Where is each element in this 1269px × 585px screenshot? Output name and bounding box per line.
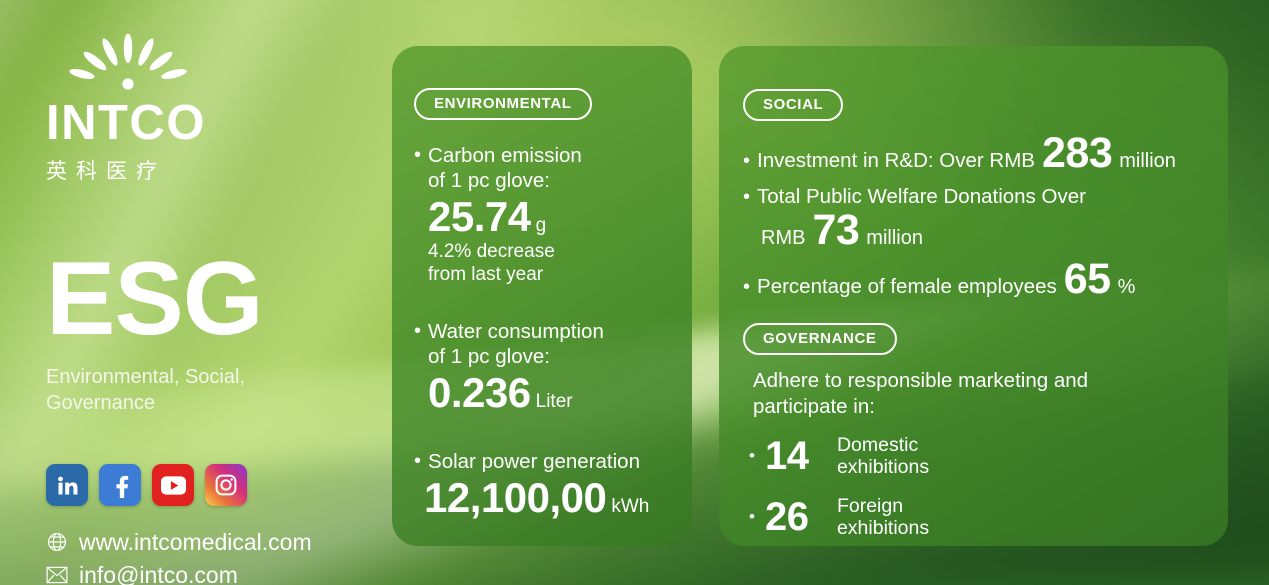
env-carbon-note-1: 4.2% decrease [428, 240, 582, 263]
env-water-unit: Liter [536, 391, 573, 412]
env-carbon-note-2: from last year [428, 263, 582, 286]
env-carbon-label-1: Carbon emission [428, 144, 582, 169]
globe-icon [46, 531, 68, 553]
foreign-count: 26 [765, 497, 827, 537]
foreign-label-2: exhibitions [837, 517, 929, 539]
email-text: info@intco.com [79, 559, 238, 585]
env-carbon-value: 25.74 [428, 193, 531, 240]
governance-exhibition-domestic: • 14 Domestic exhibitions [743, 434, 1228, 479]
social-donation-currency: RMB [761, 227, 805, 250]
foreign-label: Foreign exhibitions [837, 495, 929, 540]
social-governance-card: SOCIAL • Investment in R&D: Over RMB 283… [719, 46, 1228, 546]
env-solar-unit: kWh [611, 496, 649, 517]
social-rnd-prefix: Investment in R&D: Over RMB [757, 149, 1035, 174]
facebook-icon[interactable] [99, 464, 141, 506]
environmental-badge: ENVIRONMENTAL [414, 88, 592, 120]
domestic-label-2: exhibitions [837, 456, 929, 478]
governance-exhibition-foreign: • 26 Foreign exhibitions [743, 495, 1228, 540]
social-item-donations: • Total Public Welfare Donations Over RM… [743, 185, 1228, 251]
env-item-water: • Water consumption of 1 pc glove: 0.236… [414, 320, 692, 416]
env-water-label-2: of 1 pc glove: [428, 345, 604, 370]
website-row[interactable]: www.intcomedical.com [46, 526, 376, 559]
social-badge: SOCIAL [743, 89, 843, 121]
social-item-female: • Percentage of female employees 65 % [743, 260, 1228, 300]
env-item-solar: • Solar power generation 12,100,00kWh [414, 450, 692, 521]
brand-wordmark: INTCO [46, 99, 376, 148]
social-female-suffix: % [1118, 276, 1136, 299]
social-female-value: 65 [1064, 260, 1111, 300]
bullet-icon: • [749, 446, 755, 466]
domestic-label-1: Domestic [837, 434, 918, 456]
bullet-icon: • [743, 186, 750, 210]
env-water-label-1: Water consumption [428, 320, 604, 345]
bullet-icon: • [414, 144, 421, 286]
env-carbon-unit: g [536, 215, 547, 236]
social-female-prefix: Percentage of female employees [757, 275, 1057, 300]
website-text: www.intcomedical.com [79, 526, 312, 559]
social-item-rnd: • Investment in R&D: Over RMB 283 millio… [743, 134, 1228, 174]
social-links [46, 464, 376, 506]
env-item-carbon: • Carbon emission of 1 pc glove: 25.74g … [414, 144, 692, 286]
page-subtitle: Environmental, Social, Governance [46, 364, 276, 416]
sunburst-fan-icon [68, 34, 188, 92]
instagram-icon[interactable] [205, 464, 247, 506]
env-water-value: 0.236 [428, 369, 531, 416]
bullet-icon: • [743, 150, 750, 174]
social-donation-value: 73 [812, 211, 859, 251]
env-solar-value: 12,100,00 [424, 474, 606, 521]
foreign-label-1: Foreign [837, 495, 903, 517]
social-rnd-suffix: million [1119, 150, 1176, 173]
linkedin-icon[interactable] [46, 464, 88, 506]
domestic-count: 14 [765, 436, 827, 476]
bullet-icon: • [749, 507, 755, 527]
domestic-label: Domestic exhibitions [837, 434, 929, 479]
page-title: ESG [46, 247, 376, 351]
env-solar-label-1: Solar power generation [428, 450, 649, 475]
bullet-icon: • [414, 320, 421, 416]
email-row[interactable]: info@intco.com [46, 559, 376, 585]
governance-badge: GOVERNANCE [743, 323, 897, 355]
brand-chinese-name: 英科医疗 [46, 155, 376, 185]
bullet-icon: • [414, 450, 421, 521]
youtube-icon[interactable] [152, 464, 194, 506]
env-carbon-label-2: of 1 pc glove: [428, 169, 582, 194]
social-rnd-value: 283 [1042, 134, 1112, 174]
social-donation-prefix: Total Public Welfare Donations Over [757, 185, 1086, 210]
social-donation-suffix: million [866, 227, 923, 250]
brand-column: INTCO 英科医疗 ESG Environmental, Social, Go… [46, 34, 376, 585]
envelope-icon [46, 566, 68, 584]
contact-info: www.intcomedical.com info@intco.com [46, 526, 376, 585]
environmental-card: ENVIRONMENTAL • Carbon emission of 1 pc … [392, 46, 692, 546]
bullet-icon: • [743, 276, 750, 300]
governance-intro: Adhere to responsible marketing and part… [743, 368, 1103, 419]
